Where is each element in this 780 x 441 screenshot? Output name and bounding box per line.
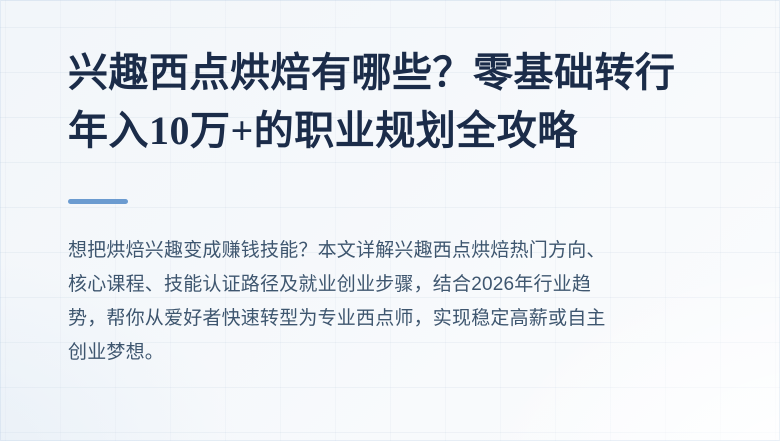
summary-line-4: 创业梦想。: [68, 336, 716, 370]
article-cover-card: 兴趣西点烘焙有哪些？零基础转行 年入10万+的职业规划全攻略 想把烘焙兴趣变成赚…: [0, 0, 780, 441]
summary-text: 想把烘焙兴趣变成赚钱技能？本文详解兴趣西点烘焙热门方向、 核心课程、技能认证路径…: [68, 234, 716, 370]
summary-line-3: 势，帮你从爱好者快速转型为专业西点师，实现稳定高薪或自主: [68, 302, 716, 336]
summary-line-2: 核心课程、技能认证路径及就业创业步骤，结合2026年行业趋: [68, 268, 716, 302]
accent-divider: [68, 199, 128, 204]
page-title-line-2: 年入10万+的职业规划全攻略: [68, 102, 716, 160]
page-title-line-1: 兴趣西点烘焙有哪些？零基础转行: [68, 44, 716, 102]
content-area: 兴趣西点烘焙有哪些？零基础转行 年入10万+的职业规划全攻略 想把烘焙兴趣变成赚…: [68, 0, 728, 441]
summary-line-1: 想把烘焙兴趣变成赚钱技能？本文详解兴趣西点烘焙热门方向、: [68, 234, 716, 268]
page-title: 兴趣西点烘焙有哪些？零基础转行 年入10万+的职业规划全攻略: [68, 44, 716, 160]
